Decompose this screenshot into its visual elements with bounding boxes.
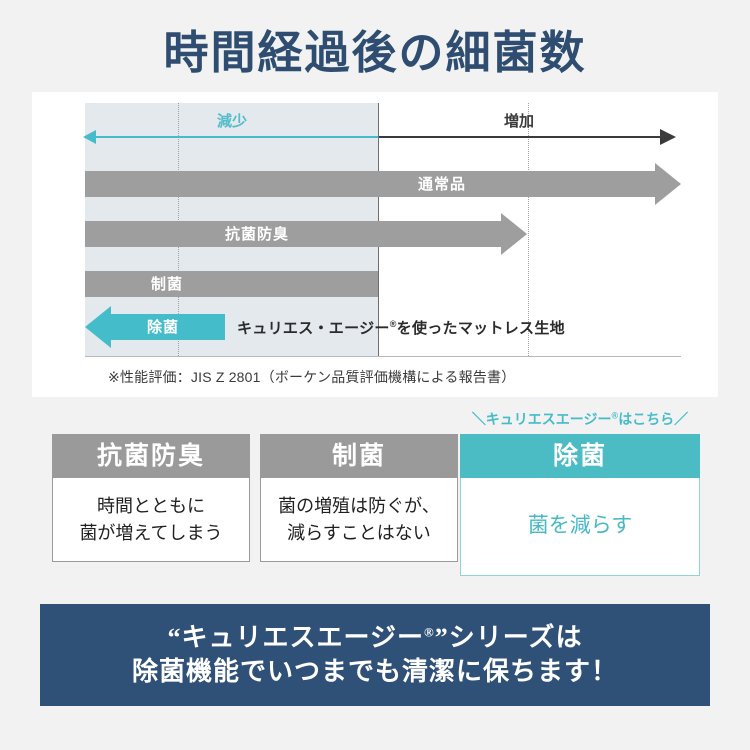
- bar-body: [85, 171, 656, 197]
- banner-line-2: 除菌機能でいつまでも清潔に保ちます！: [132, 655, 618, 689]
- bar-label: 制菌: [151, 273, 183, 294]
- card-body-line2: 減らすことはない: [287, 523, 431, 543]
- registered-mark: ®: [424, 624, 435, 639]
- card-body-line1: 菌の増殖は防ぐが、: [278, 496, 440, 516]
- bar-body: [85, 271, 378, 297]
- registered-mark: ®: [390, 319, 397, 329]
- bar-label: 除菌: [147, 316, 179, 337]
- card-body-text: 菌の増殖は防ぐが、 減らすことはない: [278, 493, 440, 545]
- card-body: 時間とともに 菌が増えてしまう: [52, 478, 250, 562]
- bar-label: 抗菌防臭: [225, 223, 289, 244]
- card-header: 除菌: [460, 434, 700, 478]
- mattress-note-text: キュリエス・エージー: [237, 320, 390, 337]
- bottom-banner: “キュリエスエージー®”シリーズは 除菌機能でいつまでも清潔に保ちます！: [40, 604, 710, 706]
- pointer-note-tail: はこちら／: [618, 411, 688, 427]
- card-header: 抗菌防臭: [52, 434, 250, 478]
- card-header: 制菌: [260, 434, 458, 478]
- card-body: 菌の増殖は防ぐが、 減らすことはない: [260, 478, 458, 562]
- axis-label-decrease: 減少: [217, 110, 247, 131]
- card-body-line1: 時間とともに: [97, 496, 205, 516]
- page-title: 時間経過後の細菌数: [0, 16, 750, 81]
- banner-line-1: “キュリエスエージー®”シリーズは: [168, 621, 583, 655]
- axis-label-increase: 増加: [504, 110, 534, 131]
- axis-right-arrow-icon: [660, 129, 676, 145]
- axis-row: 減少 増加: [32, 126, 718, 148]
- chart-panel: 減少 増加 通常品 抗菌防臭 制菌 除菌 キュ: [32, 92, 718, 397]
- infographic-page: 時間経過後の細菌数 減少 増加 通常品: [0, 0, 750, 750]
- banner-line1-head: “キュリエスエージー: [168, 623, 424, 652]
- comparison-cards: ＼キュリエスエージー®はこちら／ 抗菌防臭 時間とともに 菌が増えてしまう 制菌…: [52, 434, 700, 582]
- mattress-note-text-tail: を使ったマットレス生地: [397, 320, 565, 337]
- bar-body: [85, 221, 502, 247]
- axis-right-line: [379, 136, 661, 138]
- card-bacteriostatic: 制菌 菌の増殖は防ぐが、 減らすことはない: [260, 434, 458, 562]
- card-antibacterial-deodorant: 抗菌防臭 時間とともに 菌が増えてしまう: [52, 434, 250, 562]
- pointer-note-head: ＼キュリエスエージー: [472, 411, 612, 427]
- bar-right-arrow-icon: [655, 163, 681, 205]
- banner-line1-tail: ”シリーズは: [435, 623, 583, 652]
- card-body-text: 時間とともに 菌が増えてしまう: [79, 493, 222, 545]
- card-sanitizing: 除菌 菌を減らす: [460, 434, 700, 576]
- axis-left-line: [94, 136, 378, 138]
- curies-ag-pointer-note: ＼キュリエスエージー®はこちら／: [460, 409, 700, 429]
- card-body-line2: 菌が増えてしまう: [79, 523, 222, 543]
- card-body-line1: 菌を減らす: [528, 511, 633, 541]
- chart-baseline: [85, 356, 681, 357]
- bar-label: 通常品: [418, 173, 466, 194]
- chart-area: 減少 増加 通常品 抗菌防臭 制菌 除菌 キュ: [32, 92, 718, 397]
- bar-right-arrow-icon: [501, 213, 527, 255]
- card-body: 菌を減らす: [460, 478, 700, 576]
- chart-footnote: ※性能評価：JIS Z 2801（ボーケン品質評価機構による報告書）: [108, 367, 515, 387]
- mattress-fabric-note: キュリエス・エージー®を使ったマットレス生地: [237, 317, 565, 338]
